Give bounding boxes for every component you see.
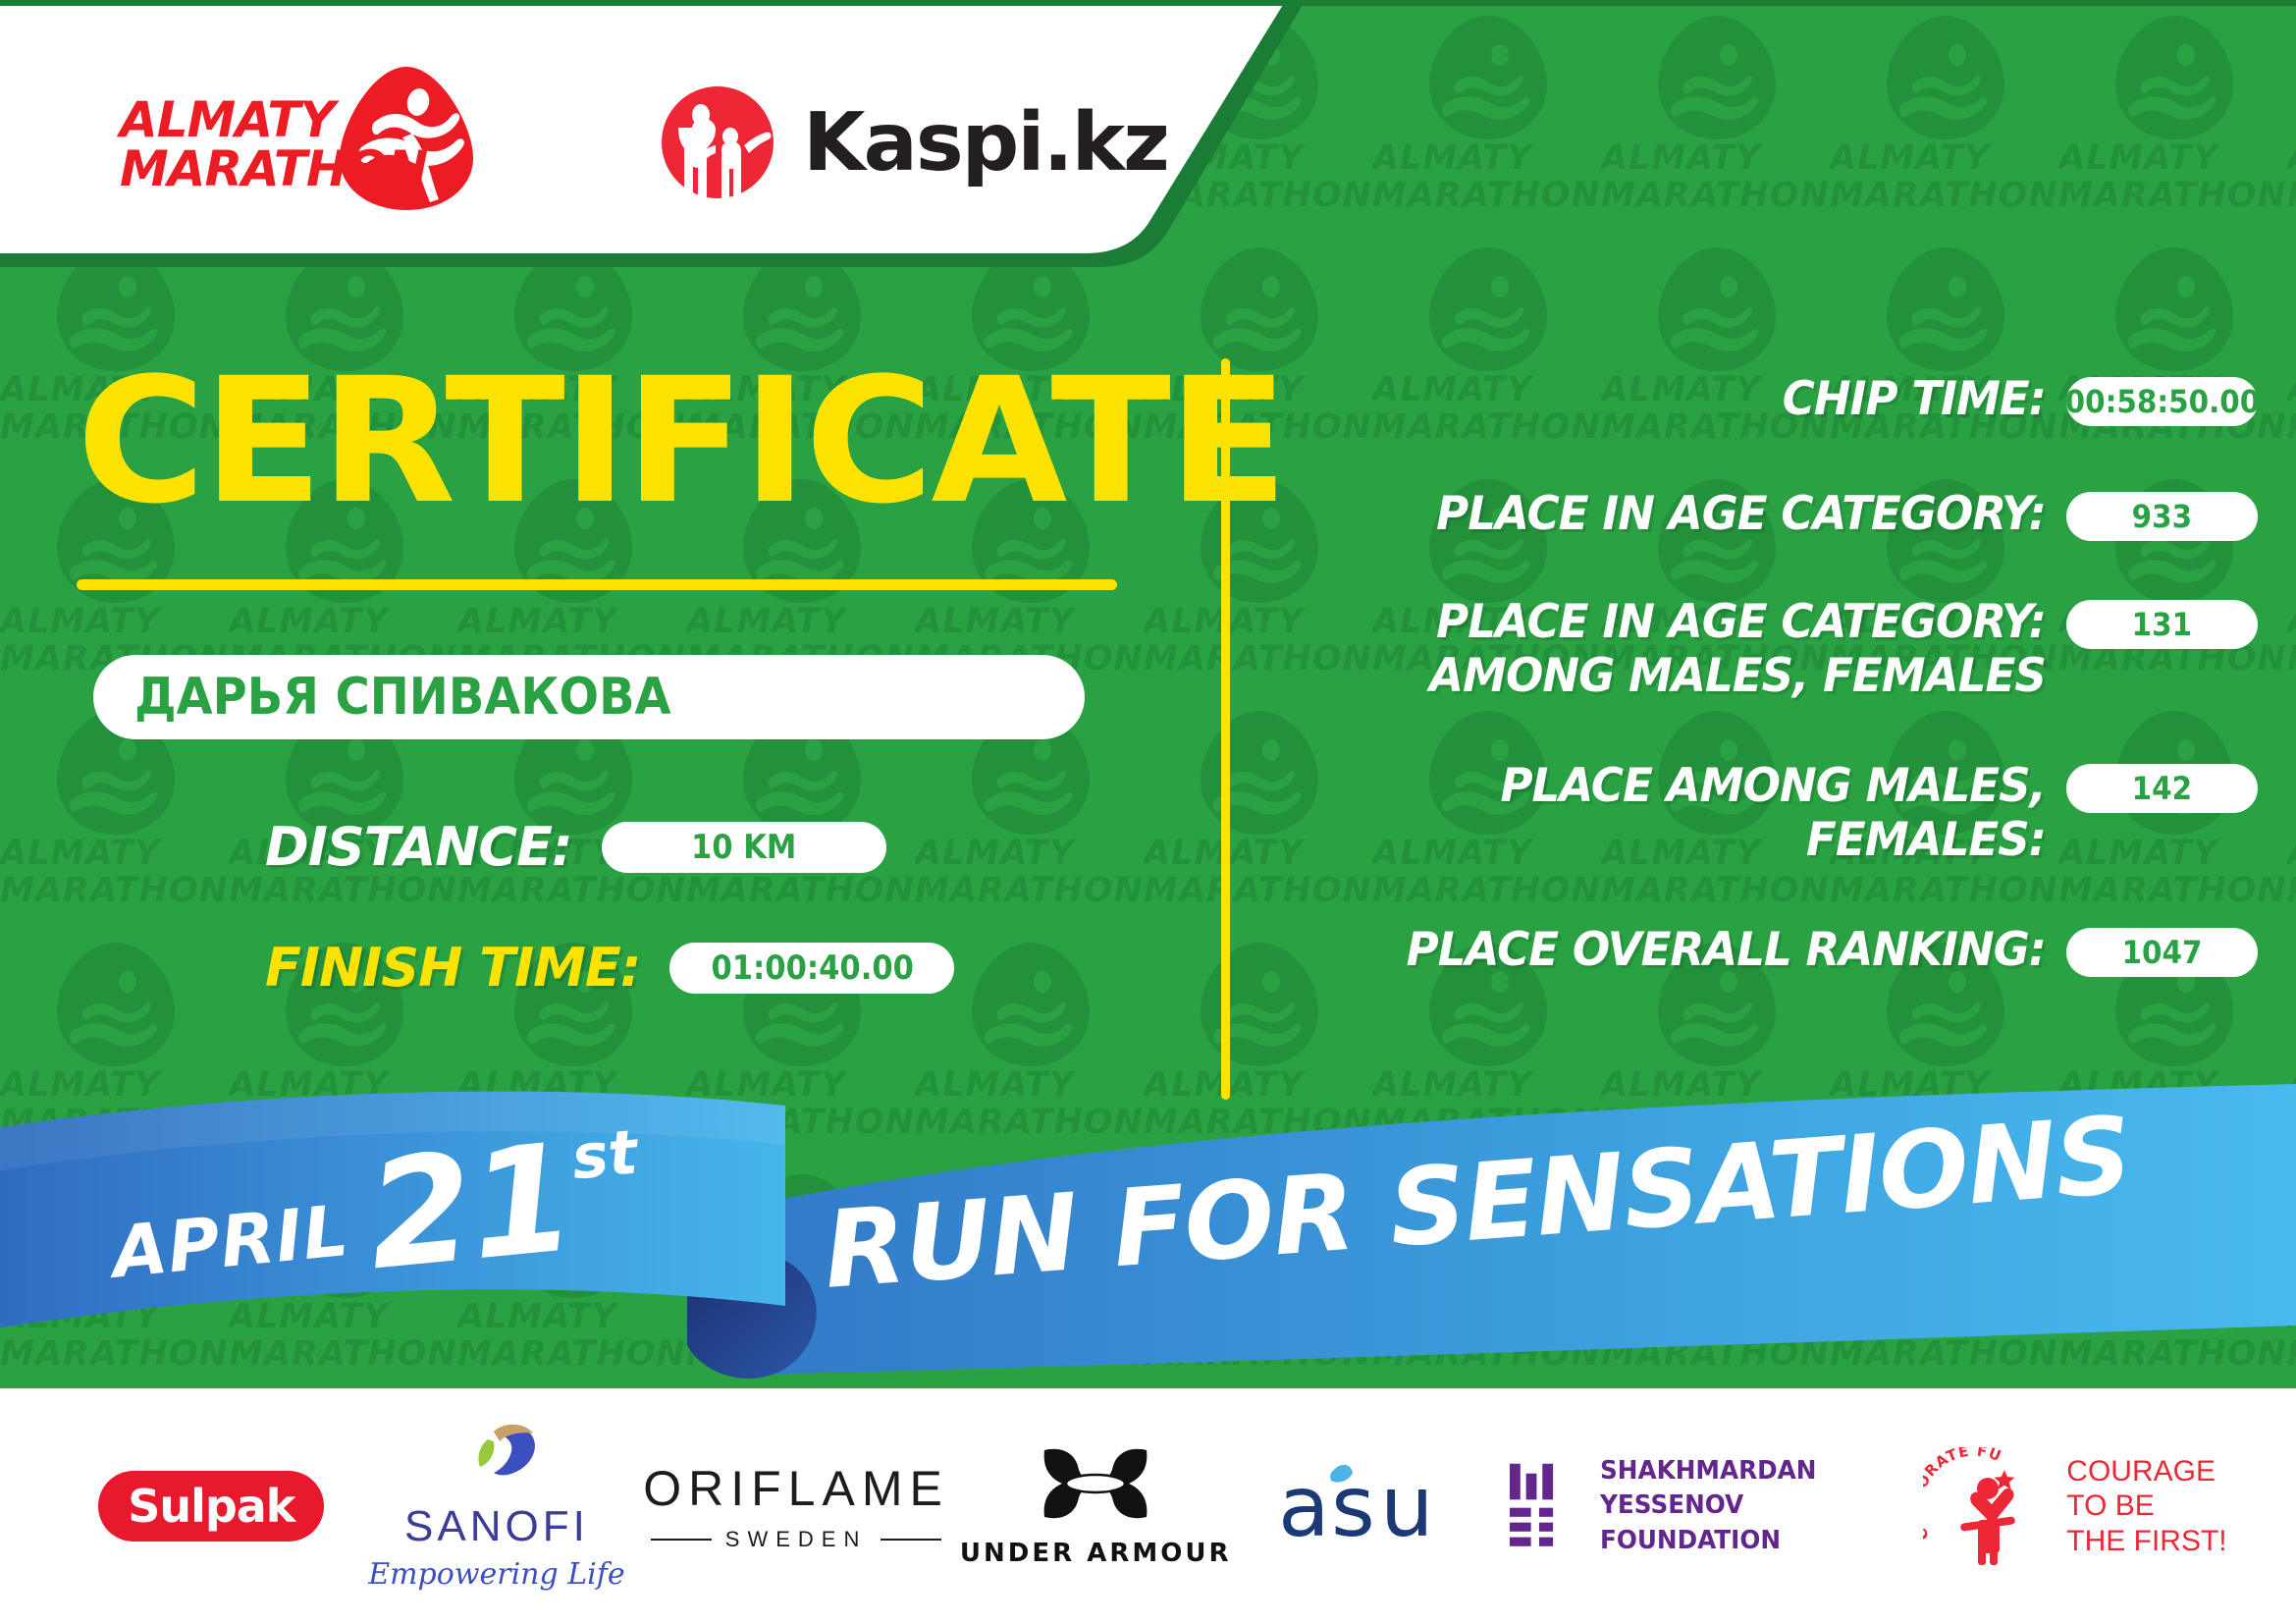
under-armour-mark-icon: [1027, 1444, 1164, 1531]
asu-logo: a s u: [1278, 1459, 1465, 1553]
distance-value: 10 KM: [691, 828, 796, 867]
sanofi-mark-icon: [443, 1422, 551, 1496]
oriflame-sub: SWEDEN: [651, 1527, 942, 1552]
sponsor-courage-fund[interactable]: CORPORATE FUND COURAGE: [1923, 1447, 2227, 1565]
svg-text:s: s: [1331, 1459, 1375, 1553]
certificate-left-column: CERTIFICATE ДАРЬЯ СПИВАКОВА DISTANCE: 10…: [0, 295, 1198, 999]
sponsor-oriflame[interactable]: ORIFLAME SWEDEN: [639, 1460, 953, 1552]
page-title: CERTIFICATE: [77, 355, 1220, 528]
place-among-males-females-line2: FEMALES:: [1308, 814, 2046, 868]
place-age-category-among-value-pill: 131: [2066, 600, 2258, 649]
finish-time-value-pill: 01:00:40.00: [669, 943, 954, 994]
kaspi-family-circle-icon: [660, 84, 775, 200]
courage-line1: COURAGE: [2066, 1454, 2226, 1489]
results-column: CHIP TIME: 00:58:50.00 PLACE IN AGE CATE…: [1276, 373, 2258, 1000]
event-month: APRIL: [109, 1189, 353, 1294]
oriflame-wordmark: ORIFLAME: [643, 1460, 949, 1517]
oriflame-tagline: SWEDEN: [725, 1527, 868, 1552]
sanofi-logo: SANOFI Empowering Life: [368, 1422, 624, 1592]
sponsor-asu[interactable]: a s u: [1239, 1459, 1505, 1553]
yessenov-line2: FOUNDATION: [1600, 1524, 1906, 1558]
distance-row: DISTANCE: 10 KM: [265, 816, 1198, 878]
place-overall-ranking-value-pill: 1047: [2066, 928, 2258, 977]
place-age-category-label: PLACE IN AGE CATEGORY:: [1308, 488, 2066, 542]
place-among-males-females-line1: PLACE AMONG MALES,: [1308, 760, 2046, 814]
place-age-category-value-pill: 933: [2066, 492, 2258, 541]
distance-value-pill: 10 KM: [602, 822, 886, 873]
place-age-category-among-line2: AMONG MALES, FEMALES: [1308, 650, 2046, 704]
finish-time-row: FINISH TIME: 01:00:40.00: [265, 937, 1198, 999]
event-day-suffix: st: [569, 1121, 640, 1188]
svg-text:a: a: [1278, 1459, 1330, 1553]
result-row-place-among-males-females: PLACE AMONG MALES, FEMALES: 142: [1276, 760, 2258, 867]
yessenov-mark-icon: [1505, 1453, 1575, 1559]
place-age-category-among-value: 131: [2132, 606, 2192, 643]
sponsor-sanofi[interactable]: SANOFI Empowering Life: [354, 1422, 640, 1592]
oriflame-rule-left: [651, 1539, 712, 1541]
certificate-canvas: ALMATY MARATHON: [0, 0, 2296, 1624]
corporate-fund-runner-icon: CORPORATE FUND: [1923, 1447, 2051, 1565]
vertical-divider: [1221, 358, 1230, 1100]
yessenov-foundation-logo: SHAKHMARDAN YESSENOV FOUNDATION: [1505, 1453, 1923, 1559]
courage-line2: TO BE: [2066, 1489, 2226, 1523]
participant-name-field: ДАРЬЯ СПИВАКОВА: [93, 655, 1085, 739]
place-among-males-females-label: PLACE AMONG MALES, FEMALES:: [1308, 760, 2066, 867]
result-row-chip-time: CHIP TIME: 00:58:50.00: [1276, 373, 2258, 427]
oriflame-rule-right: [881, 1539, 941, 1541]
almaty-marathon-line2: MARATHON: [120, 145, 427, 194]
finish-time-value: 01:00:40.00: [711, 948, 913, 988]
sulpak-logo: Sulpak: [98, 1471, 324, 1542]
header-logos: ALMATY MARATHON Kaspi.kz: [0, 0, 1227, 285]
place-overall-ranking-value: 1047: [2122, 934, 2203, 971]
courage-line3: THE FIRST!: [2066, 1524, 2226, 1558]
chip-time-label: CHIP TIME:: [1308, 373, 2066, 427]
chip-time-value-pill: 00:58:50.00: [2066, 377, 2258, 426]
distance-label: DISTANCE:: [265, 816, 572, 878]
kaspi-logo: Kaspi.kz: [660, 84, 1168, 200]
under-armour-logo: UNDER ARMOUR: [960, 1444, 1232, 1568]
sanofi-tagline: Empowering Life: [368, 1557, 624, 1592]
result-row-place-overall-ranking: PLACE OVERALL RANKING: 1047: [1276, 924, 2258, 978]
sanofi-wordmark: SANOFI: [404, 1502, 589, 1551]
title-underline-rule: [77, 579, 1117, 590]
sponsor-under-armour[interactable]: UNDER ARMOUR: [953, 1444, 1239, 1568]
oriflame-logo: ORIFLAME SWEDEN: [643, 1460, 949, 1552]
finish-time-label: FINISH TIME:: [265, 937, 640, 999]
sponsor-sulpak[interactable]: Sulpak: [69, 1471, 354, 1542]
yessenov-line1: SHAKHMARDAN YESSENOV: [1600, 1454, 1906, 1523]
under-armour-wordmark: UNDER ARMOUR: [960, 1539, 1232, 1568]
yessenov-wordmark: SHAKHMARDAN YESSENOV FOUNDATION: [1600, 1454, 1923, 1557]
svg-text:u: u: [1380, 1459, 1434, 1553]
place-overall-ranking-label: PLACE OVERALL RANKING:: [1308, 924, 2066, 978]
participant-name-value: ДАРЬЯ СПИВАКОВА: [134, 668, 671, 727]
sponsor-yessenov-foundation[interactable]: SHAKHMARDAN YESSENOV FOUNDATION: [1505, 1453, 1923, 1559]
result-row-place-age-category-among: PLACE IN AGE CATEGORY: AMONG MALES, FEMA…: [1276, 596, 2258, 703]
asu-mark-icon: a s u: [1278, 1459, 1465, 1553]
place-among-males-females-value: 142: [2132, 770, 2192, 807]
event-day: 21: [363, 1137, 578, 1278]
place-age-category-among-label: PLACE IN AGE CATEGORY: AMONG MALES, FEMA…: [1308, 596, 2066, 703]
almaty-marathon-logo: ALMATY MARATHON: [120, 59, 503, 226]
place-age-category-value: 933: [2132, 498, 2192, 535]
courage-to-be-the-first-logo: CORPORATE FUND COURAGE: [1923, 1447, 2226, 1565]
almaty-marathon-wordmark: ALMATY MARATHON: [120, 96, 427, 193]
sponsors-row: Sulpak SANOFI Empowering Life ORIFLAME: [0, 1422, 2296, 1592]
place-age-category-among-line1: PLACE IN AGE CATEGORY:: [1308, 596, 2046, 650]
sponsors-footer: Sulpak SANOFI Empowering Life ORIFLAME: [0, 1388, 2296, 1624]
chip-time-value: 00:58:50.00: [2064, 383, 2260, 420]
place-among-males-females-value-pill: 142: [2066, 764, 2258, 813]
almaty-marathon-line1: ALMATY: [120, 96, 427, 145]
result-row-place-age-category: PLACE IN AGE CATEGORY: 933: [1276, 488, 2258, 542]
kaspi-wordmark: Kaspi.kz: [803, 96, 1168, 189]
courage-wordmark: COURAGE TO BE THE FIRST!: [2066, 1454, 2226, 1558]
